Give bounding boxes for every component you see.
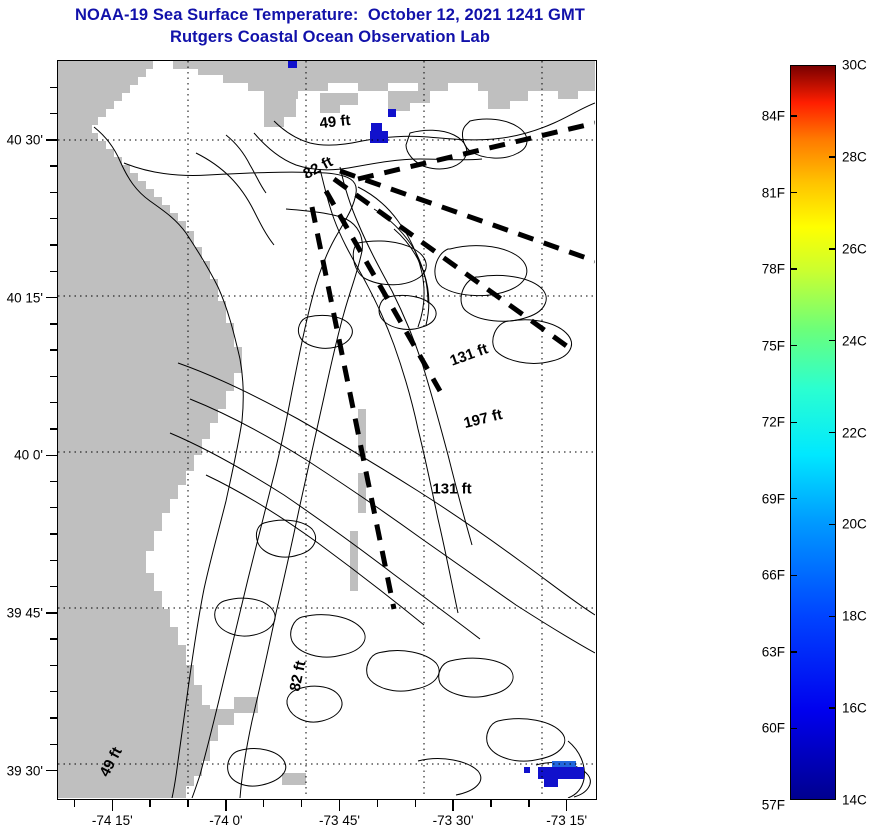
- y-tick: [46, 297, 57, 298]
- x-tick: [490, 800, 491, 807]
- colorbar-label-celsius: 28C: [842, 149, 867, 164]
- y-tick: [50, 586, 57, 587]
- x-tick: [377, 800, 378, 807]
- y-tick: [50, 691, 57, 692]
- colorbar-label-fahrenheit: 75F: [762, 338, 785, 353]
- y-tick: [50, 560, 57, 561]
- long-island-land: [153, 61, 595, 99]
- y-tick: [50, 376, 57, 377]
- colorbar-tick-f: [790, 115, 797, 117]
- colorbar-label-fahrenheit: 81F: [762, 185, 785, 200]
- colorbar-label-fahrenheit: 69F: [762, 491, 785, 506]
- y-tick: [50, 218, 57, 219]
- page-subtitle: Rutgers Coastal Ocean Observation Lab: [0, 26, 660, 48]
- x-tick: [263, 800, 264, 807]
- colorbar-tick-f: [790, 498, 797, 500]
- colorbar-label-celsius: 26C: [842, 241, 867, 256]
- colorbar-tick-c: [829, 524, 836, 526]
- colorbar-label-fahrenheit: 78F: [762, 261, 785, 276]
- y-tick: [50, 349, 57, 350]
- y-axis-label: 39 45': [7, 605, 43, 620]
- colorbar-tick-f: [790, 575, 797, 577]
- y-tick: [50, 744, 57, 745]
- y-tick: [50, 481, 57, 482]
- land-patch-a: [264, 91, 296, 127]
- y-tick: [50, 665, 57, 666]
- colorbar-label-celsius: 16C: [842, 701, 867, 716]
- colorbar-tick-c: [829, 248, 836, 250]
- y-tick: [50, 244, 57, 245]
- colorbar-label-fahrenheit: 84F: [762, 108, 785, 123]
- x-tick: [112, 800, 113, 811]
- colorbar-label-fahrenheit: 60F: [762, 721, 785, 736]
- depth-contour-label: 49 ft: [319, 112, 351, 132]
- y-tick: [50, 113, 57, 114]
- land-patch-b: [320, 93, 358, 113]
- y-axis-label: 40 15': [7, 290, 43, 305]
- colorbar-tick-c: [829, 340, 836, 342]
- y-tick: [50, 507, 57, 508]
- y-axis-label: 39 30': [7, 763, 43, 778]
- x-tick: [149, 800, 150, 807]
- colorbar-tick-f: [790, 268, 797, 270]
- y-tick: [50, 638, 57, 639]
- y-tick: [50, 533, 57, 534]
- colorbar-label-celsius: 24C: [842, 333, 867, 348]
- land-patch-d: [488, 89, 528, 109]
- x-axis-label: -73 45': [319, 813, 360, 828]
- sst-pixel-li-d: [288, 61, 297, 68]
- y-tick: [50, 717, 57, 718]
- sst-pixel-li-b: [370, 131, 388, 143]
- x-tick: [566, 800, 567, 811]
- colorbar-label-celsius: 20C: [842, 517, 867, 532]
- x-tick: [415, 800, 416, 807]
- barrier-sliver-6: [162, 751, 186, 767]
- colorbar-tick-c: [829, 432, 836, 434]
- depth-contour-label: 131 ft: [432, 481, 471, 498]
- y-tick: [50, 428, 57, 429]
- x-axis-label: -74 15': [92, 813, 133, 828]
- colorbar-label-fahrenheit: 57F: [762, 798, 785, 813]
- colorbar-tick-c: [829, 707, 836, 709]
- sst-pixel-se-c: [544, 775, 558, 787]
- y-tick: [50, 165, 57, 166]
- y-tick: [50, 192, 57, 193]
- colorbar-label-celsius: 18C: [842, 609, 867, 624]
- colorbar-tick-f: [790, 345, 797, 347]
- shipping-lane-ne: [358, 123, 595, 179]
- colorbar-label-celsius: 22C: [842, 425, 867, 440]
- colorbar-label-fahrenheit: 66F: [762, 568, 785, 583]
- x-tick: [528, 800, 529, 807]
- colorbar-tick-f: [790, 192, 797, 194]
- colorbar-label-celsius: 30C: [842, 58, 867, 73]
- barrier-sliver-2: [358, 473, 366, 513]
- y-tick: [50, 271, 57, 272]
- sst-pixel-li-c: [388, 109, 396, 117]
- barrier-sliver-3: [350, 531, 358, 591]
- colorbar-tick-c: [829, 616, 836, 618]
- colorbar-tick-f: [790, 651, 797, 653]
- x-axis-label: -73 15': [546, 813, 587, 828]
- x-tick: [225, 800, 226, 811]
- y-tick: [50, 87, 57, 88]
- y-axis-label: 40 30': [7, 132, 43, 147]
- y-tick: [50, 402, 57, 403]
- sst-pixel-se-d: [524, 767, 530, 773]
- y-tick: [46, 139, 57, 140]
- x-tick: [339, 800, 340, 811]
- shipping-lane-e: [340, 171, 595, 261]
- colorbar-tick-f: [790, 422, 797, 424]
- page-title: NOAA-19 Sea Surface Temperature: October…: [0, 4, 660, 26]
- barrier-sliver-4: [186, 709, 234, 737]
- y-tick: [46, 455, 57, 456]
- x-axis-label: -74 0': [209, 813, 242, 828]
- shipping-lane-s1: [326, 191, 440, 391]
- x-axis-label: -73 30': [433, 813, 474, 828]
- x-tick: [74, 800, 75, 807]
- chart-title-block: NOAA-19 Sea Surface Temperature: October…: [0, 4, 660, 48]
- y-axis-label: 40 0': [14, 448, 43, 463]
- colorbar-tick-f: [790, 728, 797, 730]
- y-tick: [50, 323, 57, 324]
- colorbar-label-fahrenheit: 63F: [762, 645, 785, 660]
- colorbar-tick-c: [829, 156, 836, 158]
- y-tick: [46, 612, 57, 613]
- colorbar-label-fahrenheit: 72F: [762, 415, 785, 430]
- barrier-sliver-7: [282, 773, 306, 785]
- x-tick: [187, 800, 188, 807]
- x-tick: [452, 800, 453, 811]
- x-tick: [301, 800, 302, 807]
- colorbar-label-celsius: 14C: [842, 793, 867, 808]
- y-tick: [46, 770, 57, 771]
